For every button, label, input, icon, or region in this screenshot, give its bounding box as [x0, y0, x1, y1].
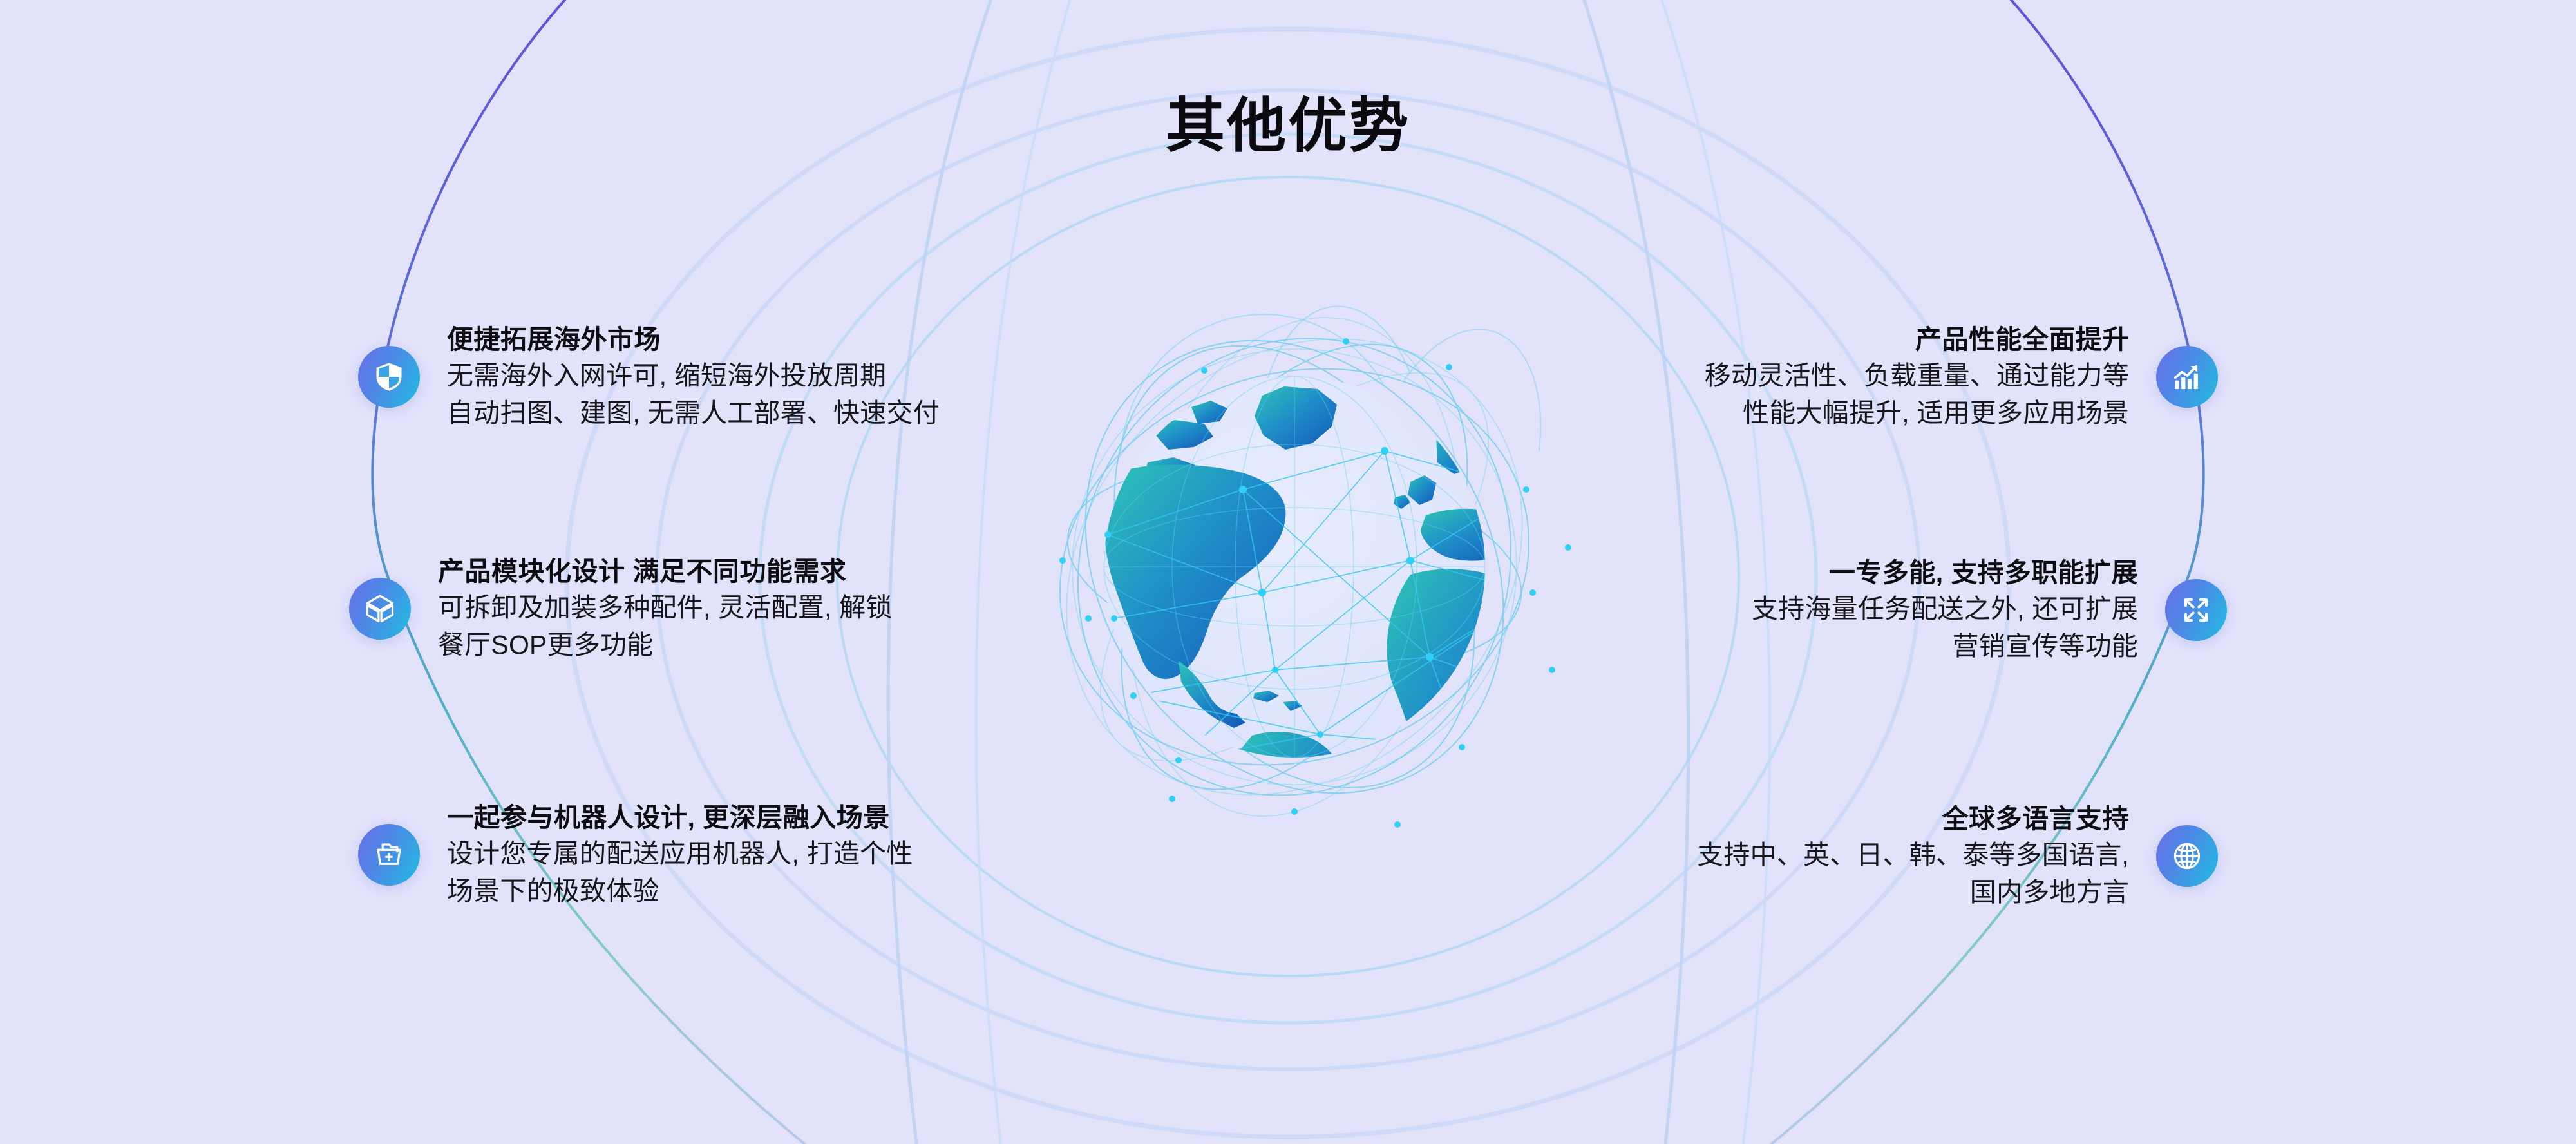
feature-text: 一专多能, 支持多职能扩展 支持海量任务配送之外, 还可扩展 营销宣传等功能	[1752, 555, 2138, 665]
feature-line: 无需海外入网许可, 缩短海外投放周期	[447, 357, 886, 394]
feature-line: 自动扫图、建图, 无需人工部署、快速交付	[447, 394, 940, 432]
feature-text: 便捷拓展海外市场 无需海外入网许可, 缩短海外投放周期 自动扫图、建图, 无需人…	[447, 322, 940, 432]
feature-title: 产品性能全面提升	[1915, 322, 2129, 357]
feature-text: 产品模块化设计 满足不同功能需求 可拆卸及加装多种配件, 灵活配置, 解锁 餐厅…	[438, 554, 893, 664]
feature-title: 全球多语言支持	[1942, 801, 2130, 836]
feature-title: 便捷拓展海外市场	[447, 322, 661, 357]
cube-icon	[349, 578, 411, 640]
feature-line: 支持海量任务配送之外, 还可扩展	[1752, 590, 2138, 627]
feature-line: 移动灵活性、负载重量、通过能力等	[1705, 357, 2129, 394]
advantages-infographic: 其他优势	[0, 0, 2576, 1144]
feature-text: 一起参与机器人设计, 更深层融入场景 设计您专属的配送应用机器人, 打造个性 场…	[447, 800, 913, 910]
feature-item-performance-upgrade[interactable]: 产品性能全面提升 移动灵活性、负载重量、通过能力等 性能大幅提升, 适用更多应用…	[1705, 322, 2218, 432]
shield-icon	[358, 346, 420, 408]
chart-growth-icon	[2156, 346, 2218, 408]
folder-plus-icon	[358, 824, 420, 886]
global-network-globe	[985, 258, 1604, 876]
feature-title: 一专多能, 支持多职能扩展	[1829, 555, 2138, 590]
feature-line: 场景下的极致体验	[447, 872, 659, 910]
feature-text: 全球多语言支持 支持中、英、日、韩、泰等多国语言, 国内多地方言	[1697, 801, 2129, 911]
page-title: 其他优势	[0, 97, 2576, 156]
feature-item-multifunction-expand[interactable]: 一专多能, 支持多职能扩展 支持海量任务配送之外, 还可扩展 营销宣传等功能	[1752, 555, 2227, 665]
feature-line: 营销宣传等功能	[1953, 627, 2138, 665]
feature-line: 性能大幅提升, 适用更多应用场景	[1743, 394, 2129, 432]
globe-icon	[2156, 825, 2218, 887]
feature-text: 产品性能全面提升 移动灵活性、负载重量、通过能力等 性能大幅提升, 适用更多应用…	[1705, 322, 2129, 432]
feature-line: 支持中、英、日、韩、泰等多国语言,	[1697, 836, 2129, 873]
feature-line: 餐厅SOP更多功能	[438, 626, 653, 663]
feature-item-overseas-market[interactable]: 便捷拓展海外市场 无需海外入网许可, 缩短海外投放周期 自动扫图、建图, 无需人…	[358, 322, 940, 432]
feature-line: 国内多地方言	[1970, 873, 2129, 911]
feature-item-codesign-robot[interactable]: 一起参与机器人设计, 更深层融入场景 设计您专属的配送应用机器人, 打造个性 场…	[358, 800, 913, 910]
feature-line: 设计您专属的配送应用机器人, 打造个性	[447, 835, 913, 872]
expand-arrows-icon	[2165, 579, 2227, 641]
feature-item-modular-design[interactable]: 产品模块化设计 满足不同功能需求 可拆卸及加装多种配件, 灵活配置, 解锁 餐厅…	[349, 554, 893, 664]
feature-title: 一起参与机器人设计, 更深层融入场景	[447, 800, 890, 835]
feature-item-multilanguage[interactable]: 全球多语言支持 支持中、英、日、韩、泰等多国语言, 国内多地方言	[1697, 801, 2218, 911]
feature-title: 产品模块化设计 满足不同功能需求	[438, 554, 846, 589]
feature-line: 可拆卸及加装多种配件, 灵活配置, 解锁	[438, 589, 893, 626]
